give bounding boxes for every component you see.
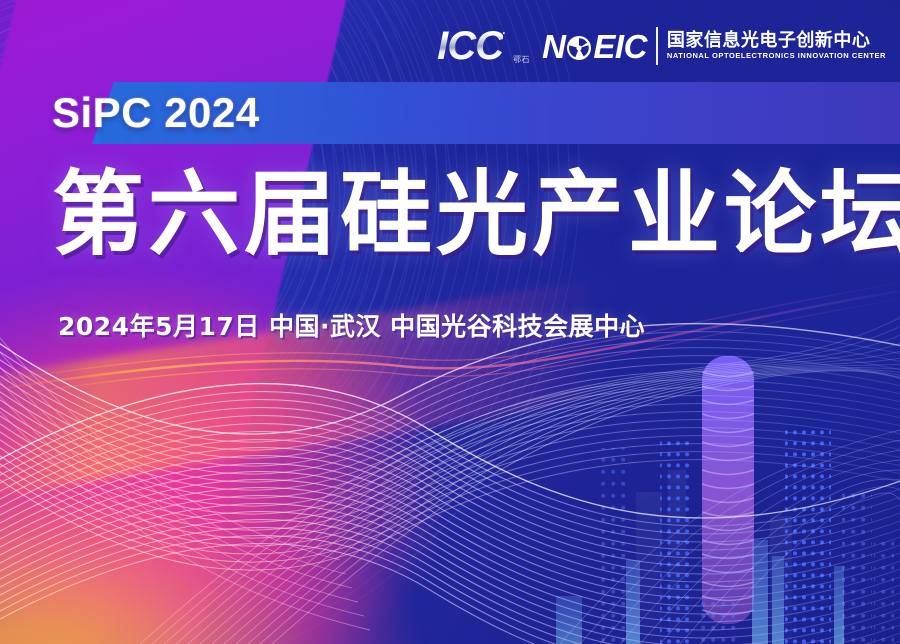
- icc-chinese-subtext: 鄂石: [513, 55, 530, 64]
- noeic-wordmark-prefix: N: [542, 30, 565, 63]
- icc-wordmark: ICC: [437, 26, 503, 66]
- noeic-wordmark-suffix: EIC: [593, 30, 647, 63]
- conference-banner: ICC · 鄂石 N EIC 国家信息光: [0, 0, 900, 644]
- noeic-logo: N EIC 国家信息光电子创新中心 NATIONAL OPTOELECTRONI…: [542, 27, 886, 65]
- event-code-badge: SiPC 2024: [0, 82, 900, 144]
- noeic-name-cn: 国家信息光电子创新中心: [667, 32, 886, 50]
- noeic-wordmark: N EIC: [542, 30, 647, 63]
- noeic-globe-icon: [566, 33, 592, 59]
- icc-superscript-icon: ·: [502, 26, 506, 40]
- badge-label: SiPC 2024: [52, 89, 260, 137]
- noeic-name-en: NATIONAL OPTOELECTRONICS INNOVATION CENT…: [667, 52, 886, 60]
- noeic-name-block: 国家信息光电子创新中心 NATIONAL OPTOELECTRONICS INN…: [667, 32, 886, 60]
- event-details-line: 2024年5月17日 中国·武汉 中国光谷科技会展中心: [58, 307, 645, 343]
- logo-bar: ICC · 鄂石 N EIC 国家信息光: [437, 26, 886, 66]
- page-title: 第六届硅光产业论坛: [52, 168, 900, 262]
- icc-logo: ICC · 鄂石: [437, 26, 530, 66]
- logo-divider: [656, 27, 658, 65]
